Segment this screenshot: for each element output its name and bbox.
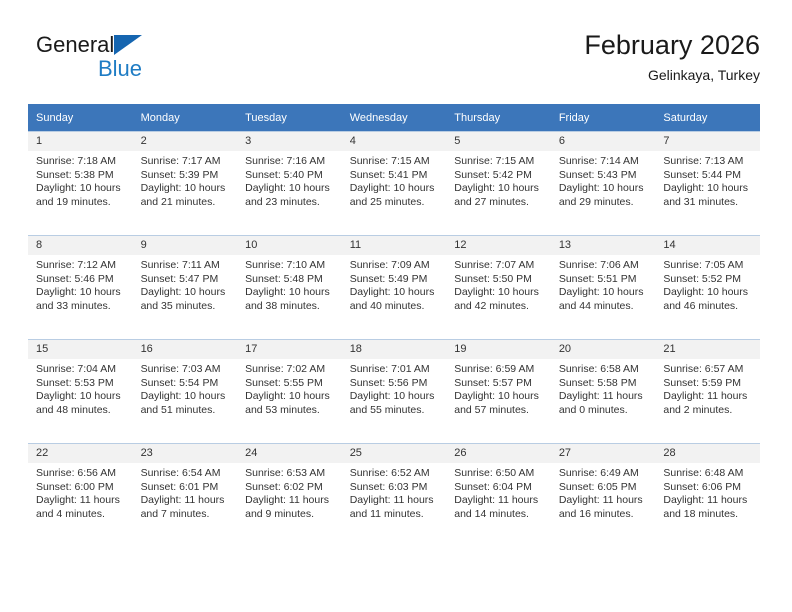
day-number: 5 — [446, 132, 551, 151]
daylight-text-line2: and 35 minutes. — [141, 300, 232, 314]
daylight-text-line1: Daylight: 11 hours — [245, 494, 336, 508]
sunset-text: Sunset: 5:52 PM — [663, 273, 754, 287]
day-cell[interactable]: 20 Sunrise: 6:58 AM Sunset: 5:58 PM Dayl… — [551, 340, 656, 444]
daylight-text-line2: and 29 minutes. — [559, 196, 650, 210]
day-cell[interactable]: 28 Sunrise: 6:48 AM Sunset: 6:06 PM Dayl… — [655, 444, 760, 548]
daylight-text-line1: Daylight: 11 hours — [559, 390, 650, 404]
day-details: Sunrise: 7:03 AM Sunset: 5:54 PM Dayligh… — [133, 359, 238, 417]
weekday-header-thursday: Thursday — [446, 104, 551, 132]
sunrise-text: Sunrise: 7:10 AM — [245, 259, 336, 273]
day-details: Sunrise: 6:54 AM Sunset: 6:01 PM Dayligh… — [133, 463, 238, 521]
sunrise-text: Sunrise: 7:11 AM — [141, 259, 232, 273]
day-cell[interactable]: 26 Sunrise: 6:50 AM Sunset: 6:04 PM Dayl… — [446, 444, 551, 548]
week-row: 1 Sunrise: 7:18 AM Sunset: 5:38 PM Dayli… — [28, 132, 760, 236]
weekday-header-friday: Friday — [551, 104, 656, 132]
sunset-text: Sunset: 5:54 PM — [141, 377, 232, 391]
weekday-header-wednesday: Wednesday — [342, 104, 447, 132]
day-details: Sunrise: 7:15 AM Sunset: 5:41 PM Dayligh… — [342, 151, 447, 209]
daylight-text-line2: and 53 minutes. — [245, 404, 336, 418]
daylight-text-line2: and 33 minutes. — [36, 300, 127, 314]
sunrise-text: Sunrise: 6:48 AM — [663, 467, 754, 481]
day-details: Sunrise: 6:57 AM Sunset: 5:59 PM Dayligh… — [655, 359, 760, 417]
sunrise-text: Sunrise: 7:02 AM — [245, 363, 336, 377]
daylight-text-line2: and 44 minutes. — [559, 300, 650, 314]
day-number: 7 — [655, 132, 760, 151]
day-cell[interactable]: 4 Sunrise: 7:15 AM Sunset: 5:41 PM Dayli… — [342, 132, 447, 236]
day-cell[interactable]: 23 Sunrise: 6:54 AM Sunset: 6:01 PM Dayl… — [133, 444, 238, 548]
day-cell[interactable]: 21 Sunrise: 6:57 AM Sunset: 5:59 PM Dayl… — [655, 340, 760, 444]
daylight-text-line1: Daylight: 10 hours — [350, 390, 441, 404]
day-cell[interactable]: 1 Sunrise: 7:18 AM Sunset: 5:38 PM Dayli… — [28, 132, 133, 236]
daylight-text-line2: and 42 minutes. — [454, 300, 545, 314]
sunrise-text: Sunrise: 6:56 AM — [36, 467, 127, 481]
daylight-text-line1: Daylight: 10 hours — [350, 286, 441, 300]
daylight-text-line1: Daylight: 10 hours — [454, 390, 545, 404]
sunset-text: Sunset: 5:41 PM — [350, 169, 441, 183]
day-details: Sunrise: 6:48 AM Sunset: 6:06 PM Dayligh… — [655, 463, 760, 521]
weekday-header-tuesday: Tuesday — [237, 104, 342, 132]
day-details: Sunrise: 7:06 AM Sunset: 5:51 PM Dayligh… — [551, 255, 656, 313]
sunrise-text: Sunrise: 7:14 AM — [559, 155, 650, 169]
sunset-text: Sunset: 5:38 PM — [36, 169, 127, 183]
daylight-text-line2: and 19 minutes. — [36, 196, 127, 210]
sunset-text: Sunset: 5:47 PM — [141, 273, 232, 287]
sunset-text: Sunset: 6:05 PM — [559, 481, 650, 495]
day-details: Sunrise: 6:52 AM Sunset: 6:03 PM Dayligh… — [342, 463, 447, 521]
day-cell[interactable]: 12 Sunrise: 7:07 AM Sunset: 5:50 PM Dayl… — [446, 236, 551, 340]
daylight-text-line1: Daylight: 11 hours — [663, 494, 754, 508]
day-number: 23 — [133, 444, 238, 463]
sunset-text: Sunset: 5:42 PM — [454, 169, 545, 183]
sunrise-text: Sunrise: 6:49 AM — [559, 467, 650, 481]
daylight-text-line2: and 23 minutes. — [245, 196, 336, 210]
day-details: Sunrise: 6:56 AM Sunset: 6:00 PM Dayligh… — [28, 463, 133, 521]
daylight-text-line1: Daylight: 10 hours — [350, 182, 441, 196]
daylight-text-line1: Daylight: 11 hours — [454, 494, 545, 508]
sunrise-text: Sunrise: 6:53 AM — [245, 467, 336, 481]
day-number: 10 — [237, 236, 342, 255]
daylight-text-line2: and 0 minutes. — [559, 404, 650, 418]
daylight-text-line2: and 38 minutes. — [245, 300, 336, 314]
day-details: Sunrise: 7:18 AM Sunset: 5:38 PM Dayligh… — [28, 151, 133, 209]
day-details: Sunrise: 6:49 AM Sunset: 6:05 PM Dayligh… — [551, 463, 656, 521]
day-cell[interactable]: 11 Sunrise: 7:09 AM Sunset: 5:49 PM Dayl… — [342, 236, 447, 340]
daylight-text-line2: and 21 minutes. — [141, 196, 232, 210]
sunrise-text: Sunrise: 7:04 AM — [36, 363, 127, 377]
day-number: 22 — [28, 444, 133, 463]
day-cell[interactable]: 25 Sunrise: 6:52 AM Sunset: 6:03 PM Dayl… — [342, 444, 447, 548]
brand-name-top: General — [36, 32, 114, 58]
day-details: Sunrise: 7:11 AM Sunset: 5:47 PM Dayligh… — [133, 255, 238, 313]
calendar-body: 1 Sunrise: 7:18 AM Sunset: 5:38 PM Dayli… — [28, 132, 760, 548]
daylight-text-line1: Daylight: 10 hours — [559, 182, 650, 196]
day-cell[interactable]: 14 Sunrise: 7:05 AM Sunset: 5:52 PM Dayl… — [655, 236, 760, 340]
day-cell[interactable]: 5 Sunrise: 7:15 AM Sunset: 5:42 PM Dayli… — [446, 132, 551, 236]
day-cell[interactable]: 15 Sunrise: 7:04 AM Sunset: 5:53 PM Dayl… — [28, 340, 133, 444]
daylight-text-line2: and 55 minutes. — [350, 404, 441, 418]
sunset-text: Sunset: 5:59 PM — [663, 377, 754, 391]
day-number: 14 — [655, 236, 760, 255]
daylight-text-line2: and 4 minutes. — [36, 508, 127, 522]
day-number: 6 — [551, 132, 656, 151]
daylight-text-line1: Daylight: 11 hours — [141, 494, 232, 508]
sunrise-text: Sunrise: 7:12 AM — [36, 259, 127, 273]
sunrise-text: Sunrise: 6:50 AM — [454, 467, 545, 481]
sunset-text: Sunset: 5:56 PM — [350, 377, 441, 391]
day-number: 27 — [551, 444, 656, 463]
sunrise-text: Sunrise: 6:59 AM — [454, 363, 545, 377]
daylight-text-line2: and 25 minutes. — [350, 196, 441, 210]
sunrise-text: Sunrise: 6:57 AM — [663, 363, 754, 377]
daylight-text-line1: Daylight: 10 hours — [141, 390, 232, 404]
sunset-text: Sunset: 5:48 PM — [245, 273, 336, 287]
daylight-text-line2: and 48 minutes. — [36, 404, 127, 418]
day-number: 12 — [446, 236, 551, 255]
sunrise-text: Sunrise: 7:06 AM — [559, 259, 650, 273]
day-cell[interactable]: 6 Sunrise: 7:14 AM Sunset: 5:43 PM Dayli… — [551, 132, 656, 236]
sunset-text: Sunset: 6:02 PM — [245, 481, 336, 495]
day-number: 9 — [133, 236, 238, 255]
weekday-header-row: Sunday Monday Tuesday Wednesday Thursday… — [28, 104, 760, 132]
day-number: 16 — [133, 340, 238, 359]
sunset-text: Sunset: 5:46 PM — [36, 273, 127, 287]
day-details: Sunrise: 7:02 AM Sunset: 5:55 PM Dayligh… — [237, 359, 342, 417]
day-details: Sunrise: 7:09 AM Sunset: 5:49 PM Dayligh… — [342, 255, 447, 313]
page-header: General Blue February 2026 Gelinkaya, Tu… — [28, 28, 760, 90]
day-details: Sunrise: 7:17 AM Sunset: 5:39 PM Dayligh… — [133, 151, 238, 209]
sunset-text: Sunset: 5:40 PM — [245, 169, 336, 183]
day-number: 20 — [551, 340, 656, 359]
sunset-text: Sunset: 6:03 PM — [350, 481, 441, 495]
day-cell[interactable]: 27 Sunrise: 6:49 AM Sunset: 6:05 PM Dayl… — [551, 444, 656, 548]
daylight-text-line1: Daylight: 10 hours — [245, 390, 336, 404]
day-cell[interactable]: 10 Sunrise: 7:10 AM Sunset: 5:48 PM Dayl… — [237, 236, 342, 340]
page-subtitle-location: Gelinkaya, Turkey — [584, 65, 760, 85]
week-row: 15 Sunrise: 7:04 AM Sunset: 5:53 PM Dayl… — [28, 340, 760, 444]
sunset-text: Sunset: 6:00 PM — [36, 481, 127, 495]
sunset-text: Sunset: 5:57 PM — [454, 377, 545, 391]
calendar-page: General Blue February 2026 Gelinkaya, Tu… — [0, 0, 792, 612]
daylight-text-line1: Daylight: 10 hours — [559, 286, 650, 300]
daylight-text-line2: and 11 minutes. — [350, 508, 441, 522]
day-number: 13 — [551, 236, 656, 255]
daylight-text-line1: Daylight: 10 hours — [454, 286, 545, 300]
day-number: 25 — [342, 444, 447, 463]
day-cell[interactable]: 8 Sunrise: 7:12 AM Sunset: 5:46 PM Dayli… — [28, 236, 133, 340]
sunrise-text: Sunrise: 7:13 AM — [663, 155, 754, 169]
daylight-text-line2: and 14 minutes. — [454, 508, 545, 522]
sunset-text: Sunset: 6:06 PM — [663, 481, 754, 495]
day-number: 8 — [28, 236, 133, 255]
sunset-text: Sunset: 5:50 PM — [454, 273, 545, 287]
day-cell[interactable]: 19 Sunrise: 6:59 AM Sunset: 5:57 PM Dayl… — [446, 340, 551, 444]
sunset-text: Sunset: 5:39 PM — [141, 169, 232, 183]
triangle-icon — [114, 35, 142, 55]
daylight-text-line1: Daylight: 10 hours — [141, 286, 232, 300]
day-number: 4 — [342, 132, 447, 151]
daylight-text-line1: Daylight: 10 hours — [36, 286, 127, 300]
daylight-text-line1: Daylight: 10 hours — [663, 286, 754, 300]
day-number: 17 — [237, 340, 342, 359]
daylight-text-line2: and 7 minutes. — [141, 508, 232, 522]
day-details: Sunrise: 7:01 AM Sunset: 5:56 PM Dayligh… — [342, 359, 447, 417]
day-number: 26 — [446, 444, 551, 463]
sunrise-text: Sunrise: 7:09 AM — [350, 259, 441, 273]
day-details: Sunrise: 7:15 AM Sunset: 5:42 PM Dayligh… — [446, 151, 551, 209]
brand-name-bottom: Blue — [98, 56, 142, 82]
daylight-text-line2: and 31 minutes. — [663, 196, 754, 210]
daylight-text-line1: Daylight: 10 hours — [36, 182, 127, 196]
day-details: Sunrise: 7:14 AM Sunset: 5:43 PM Dayligh… — [551, 151, 656, 209]
sunset-text: Sunset: 6:04 PM — [454, 481, 545, 495]
sunset-text: Sunset: 5:43 PM — [559, 169, 650, 183]
day-details: Sunrise: 6:58 AM Sunset: 5:58 PM Dayligh… — [551, 359, 656, 417]
sunrise-text: Sunrise: 7:15 AM — [350, 155, 441, 169]
daylight-text-line1: Daylight: 10 hours — [141, 182, 232, 196]
daylight-text-line2: and 57 minutes. — [454, 404, 545, 418]
day-cell[interactable]: 13 Sunrise: 7:06 AM Sunset: 5:51 PM Dayl… — [551, 236, 656, 340]
sunrise-text: Sunrise: 7:07 AM — [454, 259, 545, 273]
daylight-text-line2: and 51 minutes. — [141, 404, 232, 418]
sunrise-text: Sunrise: 6:52 AM — [350, 467, 441, 481]
sunset-text: Sunset: 5:58 PM — [559, 377, 650, 391]
day-details: Sunrise: 7:05 AM Sunset: 5:52 PM Dayligh… — [655, 255, 760, 313]
daylight-text-line2: and 27 minutes. — [454, 196, 545, 210]
day-details: Sunrise: 6:50 AM Sunset: 6:04 PM Dayligh… — [446, 463, 551, 521]
sunset-text: Sunset: 6:01 PM — [141, 481, 232, 495]
sunrise-text: Sunrise: 7:01 AM — [350, 363, 441, 377]
daylight-text-line1: Daylight: 10 hours — [245, 182, 336, 196]
day-details: Sunrise: 7:16 AM Sunset: 5:40 PM Dayligh… — [237, 151, 342, 209]
daylight-text-line1: Daylight: 11 hours — [559, 494, 650, 508]
day-details: Sunrise: 7:13 AM Sunset: 5:44 PM Dayligh… — [655, 151, 760, 209]
day-number: 3 — [237, 132, 342, 151]
sunset-text: Sunset: 5:44 PM — [663, 169, 754, 183]
sunrise-text: Sunrise: 7:03 AM — [141, 363, 232, 377]
day-cell[interactable]: 3 Sunrise: 7:16 AM Sunset: 5:40 PM Dayli… — [237, 132, 342, 236]
daylight-text-line1: Daylight: 11 hours — [350, 494, 441, 508]
day-number: 21 — [655, 340, 760, 359]
brand-logo[interactable]: General Blue — [36, 32, 276, 88]
weekday-header-sunday: Sunday — [28, 104, 133, 132]
day-number: 18 — [342, 340, 447, 359]
day-cell[interactable]: 18 Sunrise: 7:01 AM Sunset: 5:56 PM Dayl… — [342, 340, 447, 444]
day-cell[interactable]: 16 Sunrise: 7:03 AM Sunset: 5:54 PM Dayl… — [133, 340, 238, 444]
day-details: Sunrise: 7:12 AM Sunset: 5:46 PM Dayligh… — [28, 255, 133, 313]
weekday-header-saturday: Saturday — [655, 104, 760, 132]
day-number: 24 — [237, 444, 342, 463]
day-number: 19 — [446, 340, 551, 359]
day-cell[interactable]: 24 Sunrise: 6:53 AM Sunset: 6:02 PM Dayl… — [237, 444, 342, 548]
daylight-text-line2: and 18 minutes. — [663, 508, 754, 522]
page-title: February 2026 — [584, 28, 760, 62]
day-number: 11 — [342, 236, 447, 255]
daylight-text-line1: Daylight: 10 hours — [663, 182, 754, 196]
sunset-text: Sunset: 5:49 PM — [350, 273, 441, 287]
day-cell[interactable]: 7 Sunrise: 7:13 AM Sunset: 5:44 PM Dayli… — [655, 132, 760, 236]
daylight-text-line2: and 46 minutes. — [663, 300, 754, 314]
sunrise-text: Sunrise: 7:15 AM — [454, 155, 545, 169]
daylight-text-line1: Daylight: 10 hours — [36, 390, 127, 404]
sunrise-text: Sunrise: 6:54 AM — [141, 467, 232, 481]
day-cell[interactable]: 9 Sunrise: 7:11 AM Sunset: 5:47 PM Dayli… — [133, 236, 238, 340]
day-cell[interactable]: 2 Sunrise: 7:17 AM Sunset: 5:39 PM Dayli… — [133, 132, 238, 236]
day-cell[interactable]: 22 Sunrise: 6:56 AM Sunset: 6:00 PM Dayl… — [28, 444, 133, 548]
day-details: Sunrise: 6:53 AM Sunset: 6:02 PM Dayligh… — [237, 463, 342, 521]
day-number: 2 — [133, 132, 238, 151]
daylight-text-line1: Daylight: 10 hours — [245, 286, 336, 300]
sunrise-text: Sunrise: 7:16 AM — [245, 155, 336, 169]
daylight-text-line2: and 9 minutes. — [245, 508, 336, 522]
week-row: 22 Sunrise: 6:56 AM Sunset: 6:00 PM Dayl… — [28, 444, 760, 548]
daylight-text-line2: and 2 minutes. — [663, 404, 754, 418]
sunrise-text: Sunrise: 6:58 AM — [559, 363, 650, 377]
daylight-text-line1: Daylight: 11 hours — [36, 494, 127, 508]
day-details: Sunrise: 7:07 AM Sunset: 5:50 PM Dayligh… — [446, 255, 551, 313]
daylight-text-line1: Daylight: 10 hours — [454, 182, 545, 196]
calendar-table: Sunday Monday Tuesday Wednesday Thursday… — [28, 104, 760, 547]
title-block: February 2026 Gelinkaya, Turkey — [584, 28, 760, 85]
sunset-text: Sunset: 5:55 PM — [245, 377, 336, 391]
weekday-header-monday: Monday — [133, 104, 238, 132]
sunrise-text: Sunrise: 7:18 AM — [36, 155, 127, 169]
day-details: Sunrise: 7:04 AM Sunset: 5:53 PM Dayligh… — [28, 359, 133, 417]
sunrise-text: Sunrise: 7:05 AM — [663, 259, 754, 273]
day-cell[interactable]: 17 Sunrise: 7:02 AM Sunset: 5:55 PM Dayl… — [237, 340, 342, 444]
daylight-text-line2: and 40 minutes. — [350, 300, 441, 314]
day-number: 1 — [28, 132, 133, 151]
day-number: 28 — [655, 444, 760, 463]
day-number: 15 — [28, 340, 133, 359]
sunset-text: Sunset: 5:51 PM — [559, 273, 650, 287]
day-details: Sunrise: 7:10 AM Sunset: 5:48 PM Dayligh… — [237, 255, 342, 313]
daylight-text-line1: Daylight: 11 hours — [663, 390, 754, 404]
day-details: Sunrise: 6:59 AM Sunset: 5:57 PM Dayligh… — [446, 359, 551, 417]
week-row: 8 Sunrise: 7:12 AM Sunset: 5:46 PM Dayli… — [28, 236, 760, 340]
sunset-text: Sunset: 5:53 PM — [36, 377, 127, 391]
sunrise-text: Sunrise: 7:17 AM — [141, 155, 232, 169]
daylight-text-line2: and 16 minutes. — [559, 508, 650, 522]
